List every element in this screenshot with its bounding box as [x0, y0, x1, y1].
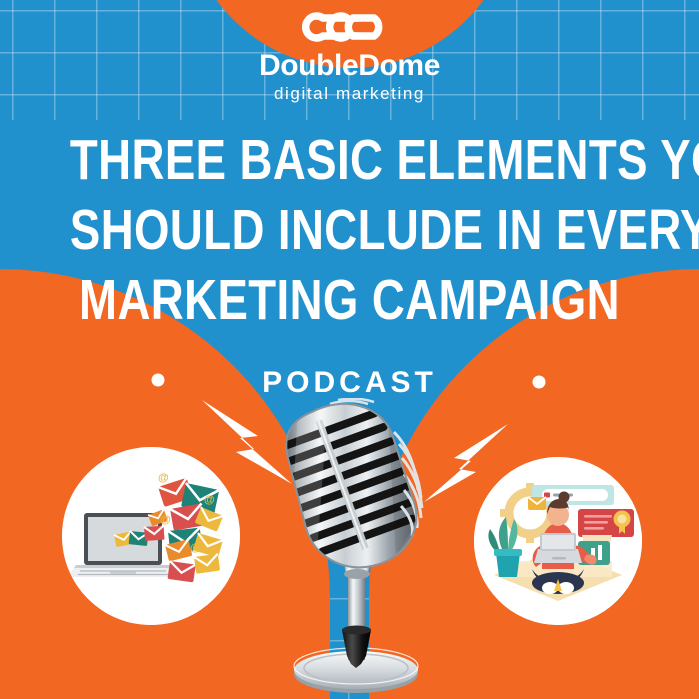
double-loop-icon — [290, 6, 410, 48]
headline-line-3: MARKETING CAMPAIGN — [70, 265, 629, 335]
poster-headline: THREE BASIC ELEMENTS YOU SHOULD INCLUDE … — [0, 125, 699, 335]
person-laptop-marketing-illustration — [474, 457, 642, 625]
sunburst-icon-left — [130, 352, 186, 408]
brand-tagline: digital marketing — [274, 85, 425, 102]
sunburst-icon-right — [511, 354, 567, 410]
brand-name: DoubleDome — [259, 51, 440, 81]
svg-text:@: @ — [158, 472, 169, 484]
retro-microphone-illustration — [268, 398, 444, 699]
svg-text:@: @ — [160, 514, 171, 526]
headline-line-1: THREE BASIC ELEMENTS YOU — [70, 125, 629, 195]
podcast-promo-poster: DoubleDome digital marketing THREE BASIC… — [0, 0, 699, 699]
brand-logo: DoubleDome digital marketing — [0, 6, 699, 102]
laptop-email-blast-illustration: @ @ @ @ — [62, 447, 240, 625]
svg-text:@: @ — [204, 494, 215, 506]
headline-line-2: SHOULD INCLUDE IN EVERY EMAIL — [70, 195, 629, 265]
svg-text:@: @ — [190, 542, 201, 554]
